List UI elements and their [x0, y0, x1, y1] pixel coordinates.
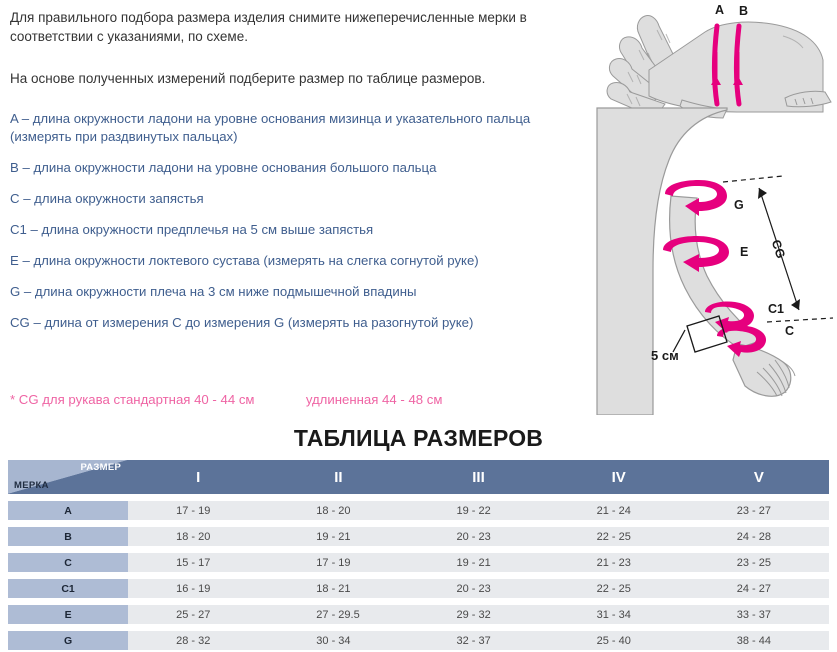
- cell-e-2: 27 - 29.5: [268, 604, 408, 625]
- table-body: A 17 - 19 18 - 20 19 - 22 21 - 24 23 - 2…: [8, 495, 829, 651]
- label-a: A: [715, 3, 724, 17]
- cell-b-4: 22 - 25: [549, 526, 689, 547]
- cell-c1-5: 24 - 27: [689, 578, 829, 599]
- label-c: C: [785, 324, 794, 338]
- table-row: B 18 - 20 19 - 21 20 - 23 22 - 25 24 - 2…: [8, 526, 829, 547]
- table-row: A 17 - 19 18 - 20 19 - 22 21 - 24 23 - 2…: [8, 500, 829, 521]
- cell-b-3: 20 - 23: [408, 526, 548, 547]
- measurement-item-g: G – длина окружности плеча на 3 см ниже …: [10, 283, 590, 301]
- column-header-5: V: [689, 460, 829, 495]
- corner-size-label: РАЗМЕР: [80, 462, 121, 473]
- page-title: ТАБЛИЦА РАЗМЕРОВ: [0, 425, 837, 452]
- table-header-row: РАЗМЕР МЕРКА I II III IV V: [8, 460, 829, 495]
- cell-g-2: 30 - 34: [268, 630, 408, 651]
- column-header-3: III: [408, 460, 548, 495]
- cell-e-4: 31 - 34: [549, 604, 689, 625]
- cell-c1-4: 22 - 25: [549, 578, 689, 599]
- column-header-2: II: [268, 460, 408, 495]
- size-guide-page: Для правильного подбора размера изделия …: [0, 0, 837, 616]
- measurement-definitions-list: A – длина окружности ладони на уровне ос…: [10, 110, 590, 345]
- column-header-4: IV: [549, 460, 689, 495]
- label-e: E: [740, 245, 748, 259]
- measurement-item-a: A – длина окружности ладони на уровне ос…: [10, 110, 590, 146]
- label-b: B: [739, 4, 748, 18]
- cell-c1-1: 16 - 19: [128, 578, 268, 599]
- diagram-svg: [587, 0, 837, 415]
- arm-illustration: [597, 91, 833, 415]
- cell-b-2: 19 - 21: [268, 526, 408, 547]
- cell-g-1: 28 - 32: [128, 630, 268, 651]
- table-row: C1 16 - 19 18 - 21 20 - 23 22 - 25 24 - …: [8, 578, 829, 599]
- cell-e-5: 33 - 37: [689, 604, 829, 625]
- note-extended-text: удлиненная 44 - 48 см: [306, 392, 443, 407]
- cell-c1-2: 18 - 21: [268, 578, 408, 599]
- cell-a-4: 21 - 24: [549, 500, 689, 521]
- row-label-c: C: [8, 552, 128, 573]
- measurement-item-b: B – длина окружности ладони на уровне ос…: [10, 159, 590, 177]
- table-corner-cell: РАЗМЕР МЕРКА: [8, 460, 128, 495]
- cell-c-2: 17 - 19: [268, 552, 408, 573]
- row-label-g: G: [8, 630, 128, 651]
- cell-c-5: 23 - 25: [689, 552, 829, 573]
- row-label-b: B: [8, 526, 128, 547]
- row-label-c1: C1: [8, 578, 128, 599]
- cell-b-5: 24 - 28: [689, 526, 829, 547]
- measurement-item-e: E – длина окружности локтевого сустава (…: [10, 252, 590, 270]
- cell-g-5: 38 - 44: [689, 630, 829, 651]
- cell-a-3: 19 - 22: [408, 500, 548, 521]
- cell-a-1: 17 - 19: [128, 500, 268, 521]
- table-row: C 15 - 17 17 - 19 19 - 21 21 - 23 23 - 2…: [8, 552, 829, 573]
- size-table: РАЗМЕР МЕРКА I II III IV V A 17 - 19 18 …: [8, 460, 829, 652]
- cell-a-5: 23 - 27: [689, 500, 829, 521]
- cell-c-1: 15 - 17: [128, 552, 268, 573]
- measurement-diagram: A B G E C1 C CG 5 см: [587, 0, 837, 415]
- corner-measure-label: МЕРКА: [14, 480, 49, 491]
- cell-g-4: 25 - 40: [549, 630, 689, 651]
- row-label-e: E: [8, 604, 128, 625]
- note-standard-text: * CG для рукава стандартная 40 - 44 см: [10, 392, 254, 407]
- cell-e-1: 25 - 27: [128, 604, 268, 625]
- cell-a-2: 18 - 20: [268, 500, 408, 521]
- intro-paragraph-2: На основе полученных измерений подберите…: [10, 69, 580, 88]
- cell-c-4: 21 - 23: [549, 552, 689, 573]
- table-row: G 28 - 32 30 - 34 32 - 37 25 - 40 38 - 4…: [8, 630, 829, 651]
- measurement-item-cg: CG – длина от измерения C до измерения G…: [10, 314, 590, 332]
- measurement-item-c1: C1 – длина окружности предплечья на 5 см…: [10, 221, 590, 239]
- label-c1: C1: [768, 302, 784, 316]
- sleeve-length-note: * CG для рукава стандартная 40 - 44 см у…: [10, 392, 590, 407]
- label-five-cm: 5 см: [651, 348, 679, 363]
- cell-b-1: 18 - 20: [128, 526, 268, 547]
- cell-g-3: 32 - 37: [408, 630, 548, 651]
- measurement-item-c: C – длина окружности запястья: [10, 190, 590, 208]
- row-label-a: A: [8, 500, 128, 521]
- cell-c-3: 19 - 21: [408, 552, 548, 573]
- intro-paragraph-1: Для правильного подбора размера изделия …: [10, 8, 570, 46]
- column-header-1: I: [128, 460, 268, 495]
- cell-c1-3: 20 - 23: [408, 578, 548, 599]
- label-g: G: [734, 198, 744, 212]
- table-row: E 25 - 27 27 - 29.5 29 - 32 31 - 34 33 -…: [8, 604, 829, 625]
- cell-e-3: 29 - 32: [408, 604, 548, 625]
